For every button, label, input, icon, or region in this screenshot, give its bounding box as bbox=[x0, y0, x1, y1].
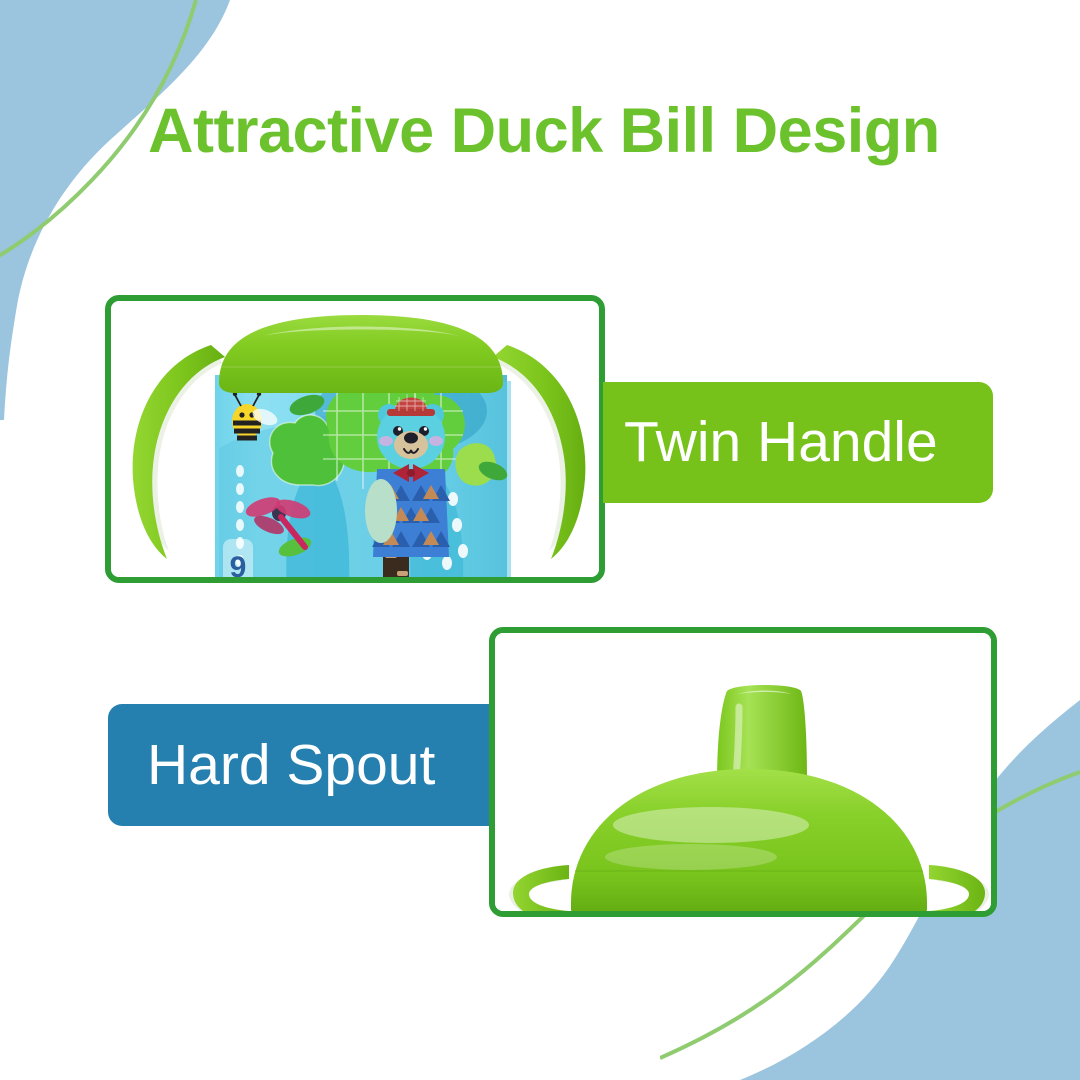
feature-label-hard-spout-text: Hard Spout bbox=[147, 737, 435, 794]
feature-label-hard-spout[interactable]: Hard Spout bbox=[108, 704, 493, 826]
bear-arm bbox=[365, 479, 397, 543]
sippy-cup-twin-handle-image: 9 bbox=[111, 301, 605, 583]
page-title: Attractive Duck Bill Design bbox=[148, 98, 940, 164]
feature-label-twin-handle-text: Twin Handle bbox=[624, 414, 938, 471]
svg-text:9: 9 bbox=[230, 551, 247, 583]
photo-frame-hard-spout bbox=[489, 627, 997, 917]
infographic-canvas: Attractive Duck Bill Design bbox=[0, 0, 1080, 1080]
hard-spout-closeup-image bbox=[495, 633, 997, 917]
age-badge: 9 bbox=[223, 539, 253, 583]
hard-spout bbox=[717, 685, 807, 783]
photo-frame-twin-handle: 9 bbox=[105, 295, 605, 583]
feature-label-twin-handle[interactable]: Twin Handle bbox=[603, 382, 993, 503]
